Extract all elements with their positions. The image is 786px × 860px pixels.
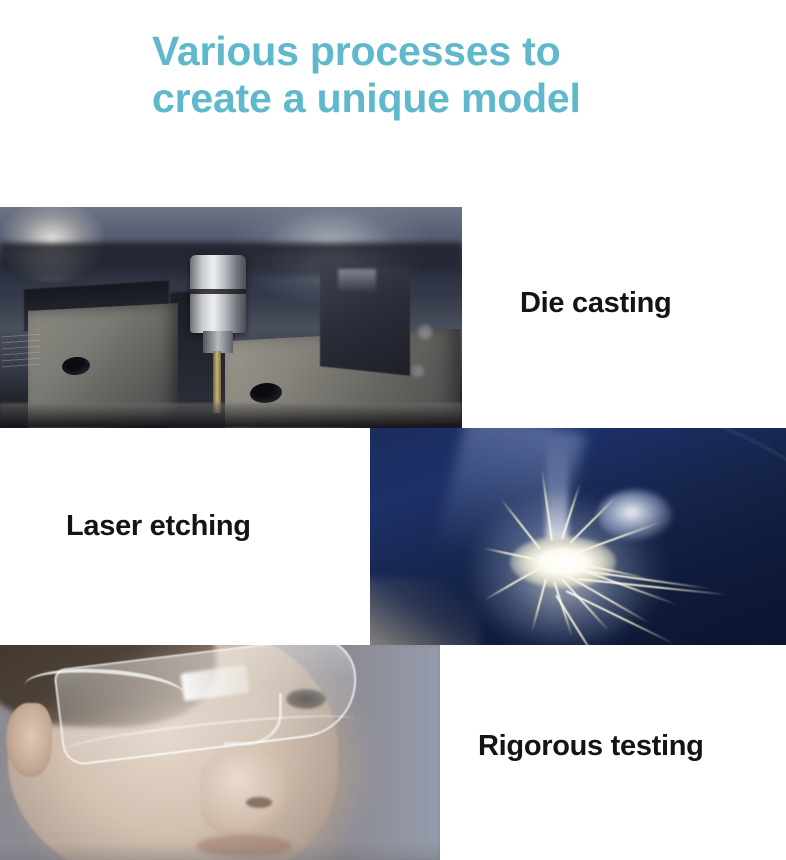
page-title: Various processes to create a unique mod… [152, 28, 672, 122]
bokeh-highlight-b [412, 365, 424, 377]
engraved-marks [2, 334, 40, 371]
process-showcase-page: Various processes to create a unique mod… [0, 0, 786, 860]
spindle-body [190, 255, 246, 333]
page-title-line-1: Various processes to [152, 28, 672, 75]
laser-etching-label: Laser etching [66, 509, 251, 543]
die-casting-label: Die casting [520, 286, 671, 320]
rigorous-testing-label: Rigorous testing [478, 729, 704, 763]
page-title-line-2: create a unique model [152, 75, 672, 122]
laser-etching-image [370, 428, 786, 645]
lower-surface-glow [370, 578, 480, 645]
bottom-shadow [0, 843, 440, 860]
rigorous-testing-image [0, 645, 440, 860]
machine-base-rail [0, 403, 462, 428]
spindle-ring [190, 289, 246, 294]
bokeh-highlight-a [418, 325, 432, 339]
die-casting-image [0, 207, 462, 428]
fixture-highlight [338, 269, 376, 293]
laser-impact-core [510, 536, 616, 588]
nostril [246, 797, 272, 808]
spindle-taper [203, 331, 233, 353]
ear [6, 703, 52, 777]
